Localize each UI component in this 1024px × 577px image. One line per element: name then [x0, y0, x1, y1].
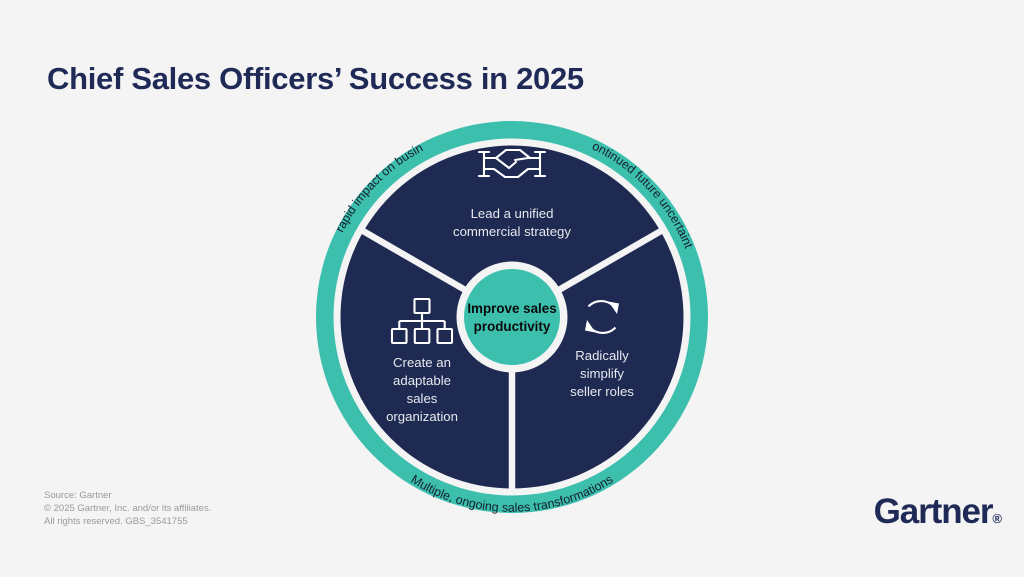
segment-label-line: organization: [386, 409, 458, 424]
segment-label-line: commercial strategy: [453, 224, 571, 239]
segment-label-line: Radically: [575, 348, 629, 363]
gartner-logo: Gartner®: [874, 492, 1002, 532]
footer-line-source: Source: Gartner: [44, 489, 211, 502]
footer-line-copyright: © 2025 Gartner, Inc. and/or its affiliat…: [44, 502, 211, 515]
segment-label-line: seller roles: [570, 384, 634, 399]
segment-label-line: Create an: [393, 355, 451, 370]
footer-attribution: Source: Gartner © 2025 Gartner, Inc. and…: [44, 489, 211, 529]
segment-label-line: Lead a unified: [471, 206, 554, 221]
csos-success-wheel-diagram: Lead a unified commercial strategy Creat…: [300, 105, 724, 534]
page-title: Chief Sales Officers’ Success in 2025: [47, 61, 584, 97]
hub-label-line: productivity: [474, 319, 551, 334]
hub-label-line: Improve sales: [467, 301, 556, 316]
footer-line-rights: All rights reserved. GBS_3541755: [44, 515, 211, 528]
segment-label-line: adaptable: [393, 373, 451, 388]
segment-label-line: sales: [407, 391, 438, 406]
registered-trademark-icon: ®: [992, 511, 1002, 526]
gartner-logo-text: Gartner: [874, 492, 993, 531]
hub-circle: [464, 269, 560, 365]
segment-label-line: simplify: [580, 366, 624, 381]
hub-improve-sales-productivity[interactable]: Improve sales productivity: [457, 262, 568, 373]
